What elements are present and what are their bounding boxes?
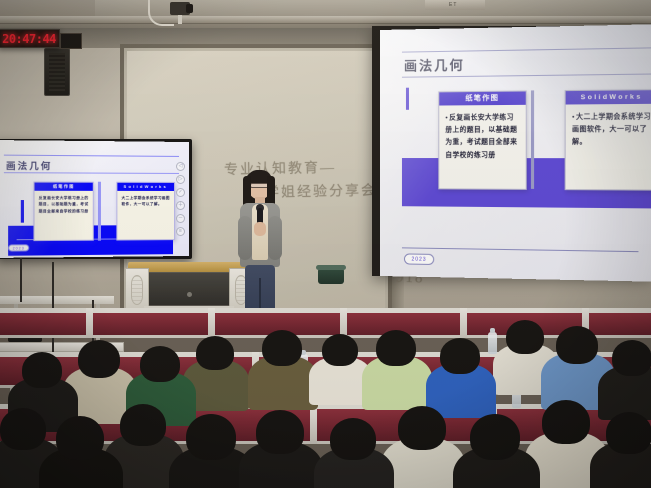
audience-member-head	[120, 404, 166, 446]
mirror-card-body-right: 大二上学期会系统学习画图软件，大一可以了解。	[117, 191, 174, 212]
whiteboard-heading-line1: 专业认知教育—	[224, 157, 336, 179]
audience-member-head	[440, 338, 480, 374]
projection-screen: 画法几何 -k- 纸笔作图 •反复画长安大学练习册上的题目，以基础题为重，考试题…	[372, 26, 651, 276]
led-clock: 20:47:44	[0, 29, 60, 48]
mirror-page-pill: 2023	[8, 244, 29, 251]
slide-accent-bar	[406, 88, 409, 110]
mirror-accent-bar	[21, 200, 24, 223]
ceiling-beam	[0, 16, 651, 24]
slide-rule-top	[402, 47, 651, 52]
audience-member-head	[56, 416, 104, 460]
card-header-left: 纸笔作图	[439, 92, 525, 106]
audience-member-head	[186, 414, 236, 460]
audience-member-head	[140, 346, 180, 382]
power-cable-1	[52, 262, 54, 352]
camera-lens-icon	[186, 4, 193, 13]
audience-member-head	[256, 410, 304, 454]
podium-side-left	[125, 268, 149, 310]
audience-member-head	[322, 334, 358, 366]
ceiling-label: ET	[449, 2, 457, 8]
presenter-arm-right	[268, 216, 282, 260]
seat-row-1	[0, 308, 651, 338]
slide-mirror: 画法几何 -k- 纸笔作图 反复画长安大学练习册上的题目，以基础题为重，考试题目…	[0, 140, 189, 258]
bullet-right: •	[572, 114, 575, 121]
seat-divider	[460, 308, 467, 338]
mirror-rule-top	[4, 155, 179, 157]
slide-title: 画法几何	[404, 55, 465, 75]
audience-member-head	[262, 330, 302, 366]
audience-member-head	[196, 336, 234, 370]
audience-member-head	[542, 400, 590, 444]
podium-front-panel	[148, 272, 230, 306]
mirror-card-body-left: 反复画长安大学练习册上的题目，以基础题为重，考试题目全部来自学校的练习册	[35, 191, 93, 219]
mirror-card-left: 纸笔作图 反复画长安大学练习册上的题目，以基础题为重，考试题目全部来自学校的练习…	[33, 182, 93, 242]
mirror-slide-title: 画法几何	[6, 159, 52, 173]
slide-card-paper-drawing: 纸笔作图 •反复画长安大学练习册上的题目，以基础题为重，考试题目全部来自学校的练…	[438, 90, 527, 189]
mirror-card-header-left: 纸笔作图	[35, 183, 93, 191]
card-body-left: •反复画长安大学练习册上的题目，以基础题为重，考试题目全部来自学校的练习册	[439, 105, 525, 166]
seat-divider	[86, 308, 93, 338]
presenter-arm-left	[238, 216, 252, 260]
clock-time: 20:47:44	[2, 32, 56, 46]
bullet-left: •	[445, 115, 448, 122]
power-cable-3	[20, 258, 22, 302]
wall-speaker-icon	[44, 48, 70, 96]
audience-member-head	[376, 330, 416, 366]
wall-monitor: 画法几何 -k- 纸笔作图 反复画长安大学练习册上的题目，以基础题为重，考试题目…	[0, 139, 192, 259]
lecture-hall-scene: ET 专业认知教育— 实学姐经验分享会 918 20:47:44 画法几何 -k…	[0, 0, 651, 488]
monitor-btn-next-icon[interactable]: ▷	[176, 175, 185, 184]
slide-divider	[531, 90, 534, 189]
slide-page-pill: 2023	[404, 253, 434, 265]
audience-member-head	[606, 412, 651, 454]
mirror-divider	[98, 182, 101, 241]
podium-ornament-left	[131, 275, 143, 305]
card-body-right: •大二上学期会系统学习画图软件，大一可以了解。	[566, 104, 651, 154]
card-text-right: 大二上学期会系统学习画图软件，大一可以了解。	[572, 113, 651, 146]
monitor-btn-prev-icon[interactable]: ◁	[176, 162, 185, 171]
audience-member-head	[0, 408, 46, 450]
seat-divider	[310, 404, 317, 444]
monitor-btn-menu-icon[interactable]: ≡	[176, 227, 185, 236]
trash-bin-lid	[316, 265, 346, 270]
water-bottle	[488, 332, 497, 354]
audience-member-head	[330, 418, 376, 460]
trash-bin	[318, 268, 344, 284]
projection-surface: 画法几何 -k- 纸笔作图 •反复画长安大学练习册上的题目，以基础题为重，考试题…	[380, 24, 651, 282]
mirror-card-right: SolidWorks 大二上学期会系统学习画图软件，大一可以了解。	[116, 182, 175, 241]
slide-card-solidworks: SolidWorks •大二上学期会系统学习画图软件，大一可以了解。	[565, 89, 651, 191]
audience-member-head	[506, 320, 544, 354]
seat-divider	[208, 308, 215, 338]
audience-member-head	[398, 406, 446, 450]
mirror-card-header-right: SolidWorks	[117, 183, 174, 191]
monitor-btn-minus-icon[interactable]: －	[176, 214, 185, 223]
audience-member-head	[470, 414, 520, 460]
audience-member-head	[612, 340, 651, 376]
audience-member-head	[22, 352, 62, 388]
card-text-left: 反复画长安大学练习册上的题目，以基础题为重，考试题目全部来自学校的练习册	[445, 114, 517, 159]
slide-main: 画法几何 -k- 纸笔作图 •反复画长安大学练习册上的题目，以基础题为重，考试题…	[380, 24, 651, 282]
monitor-surface: 画法几何 -k- 纸笔作图 反复画长安大学练习册上的题目，以基础题为重，考试题目…	[0, 140, 189, 258]
card-header-right: SolidWorks	[566, 90, 651, 104]
mirror-rule-mid	[4, 172, 179, 174]
audience-member-head	[78, 340, 120, 378]
monitor-btn-confirm-icon[interactable]: ✓	[176, 188, 185, 197]
monitor-control-column[interactable]: ◁ ▷ ✓ ＋ － ≡	[176, 162, 185, 236]
audience-member-head	[556, 326, 598, 364]
presenter-hands	[254, 222, 266, 236]
side-shelf	[0, 296, 114, 304]
slide-rule-bottom	[402, 247, 639, 252]
monitor-btn-plus-icon[interactable]: ＋	[176, 201, 185, 210]
clock-side-box	[60, 33, 82, 49]
